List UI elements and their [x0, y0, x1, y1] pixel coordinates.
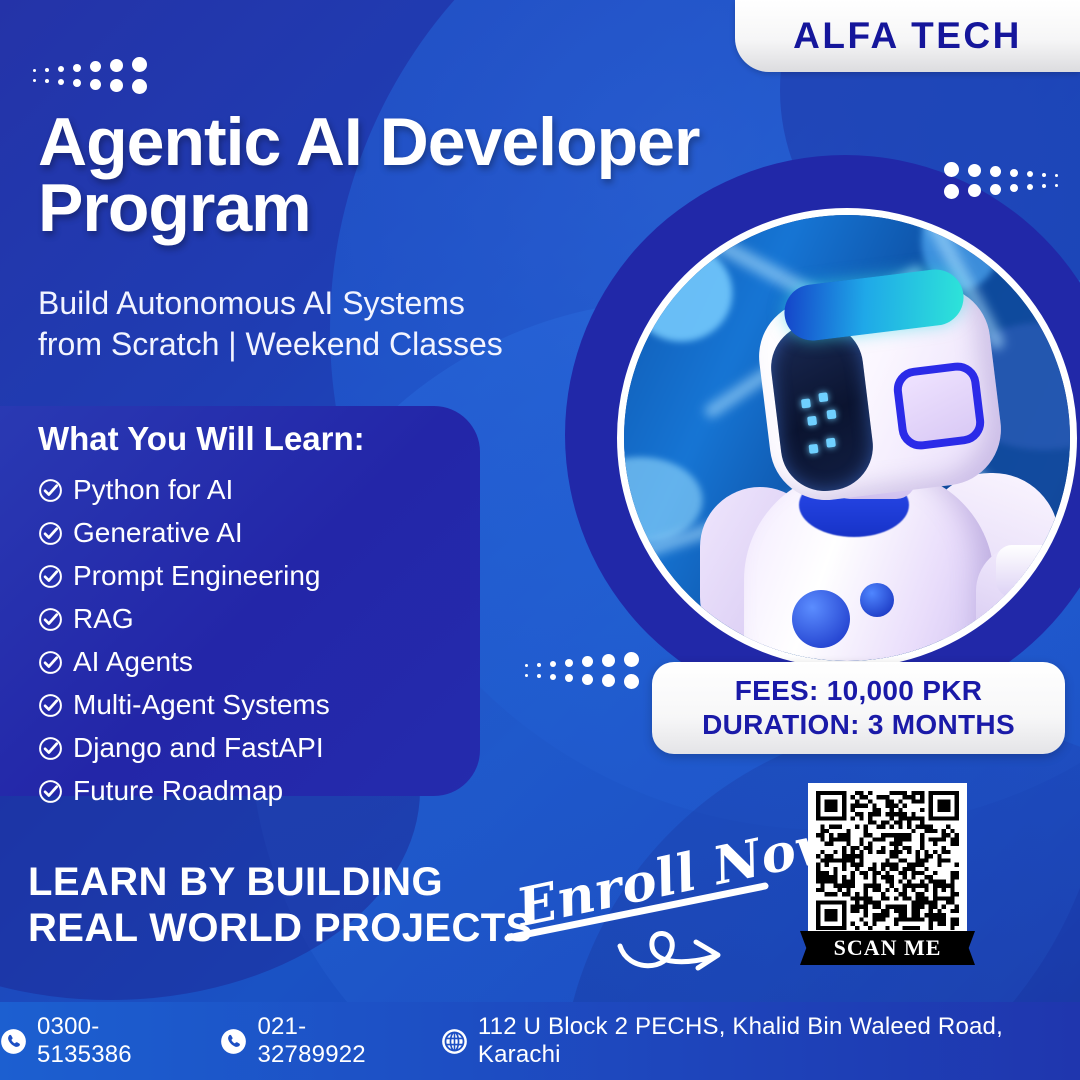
qr-code-image[interactable] [816, 791, 959, 930]
contact-footer: 0300-5135386021-32789922112 U Block 2 PE… [0, 1002, 1080, 1080]
curriculum-item: AI Agents [38, 644, 508, 681]
robot-side-port [891, 360, 986, 452]
dot-column [944, 162, 959, 199]
headline-line-1: Agentic AI Developer [38, 110, 798, 176]
dot-column [45, 68, 49, 83]
dot-column [990, 166, 1001, 195]
dot-column [525, 664, 528, 677]
scan-me-label: SCAN ME [834, 935, 942, 961]
curriculum-item-label: Generative AI [73, 515, 243, 552]
subheadline-line-2: from Scratch | Weekend Classes [38, 324, 658, 365]
curriculum-item-label: Future Roadmap [73, 773, 283, 810]
dot-column [565, 659, 573, 682]
dot-pattern-top-right [944, 162, 1058, 199]
curriculum-item-label: Python for AI [73, 472, 233, 509]
dot-column [1055, 174, 1058, 187]
curriculum-item: Multi-Agent Systems [38, 687, 508, 724]
curriculum-item: RAG [38, 601, 508, 638]
contact-value: 112 U Block 2 PECHS, Khalid Bin Waleed R… [478, 1013, 1080, 1069]
check-circle-icon [38, 779, 63, 804]
dot-column [33, 69, 36, 82]
dot-column [1010, 169, 1018, 192]
dot-column [1027, 171, 1033, 190]
contact-value: 0300-5135386 [37, 1013, 190, 1069]
phone-icon [0, 1028, 27, 1055]
curriculum-item: Future Roadmap [38, 773, 508, 810]
dot-column [602, 654, 615, 687]
check-circle-icon [38, 521, 63, 546]
dot-column [582, 656, 593, 685]
robot-hand-right [996, 545, 1068, 597]
ribbon-tail-right [961, 931, 975, 965]
dot-column [1042, 173, 1046, 188]
robot-button-large [792, 590, 850, 648]
brand-name: ALFA TECH [793, 15, 1022, 57]
subheadline-group: Build Autonomous AI Systems from Scratch… [38, 283, 658, 365]
qr-code-frame [808, 783, 967, 938]
dot-column [537, 663, 541, 678]
fees-line: FEES: 10,000 PKR [735, 674, 983, 708]
robot-photo [617, 208, 1077, 668]
dot-column [58, 66, 64, 85]
check-circle-icon [38, 736, 63, 761]
curriculum-item-label: Multi-Agent Systems [73, 687, 330, 724]
brand-tab: ALFA TECH [735, 0, 1080, 72]
curriculum-item-label: AI Agents [73, 644, 193, 681]
robot-photo-inner [624, 215, 1070, 661]
curriculum-item-label: RAG [73, 601, 134, 638]
curriculum-title: What You Will Learn: [38, 420, 508, 458]
curriculum-item-label: Prompt Engineering [73, 558, 320, 595]
dot-column [90, 61, 101, 90]
robot-button-small [860, 583, 894, 617]
check-circle-icon [38, 693, 63, 718]
ribbon-body: SCAN ME [812, 931, 963, 965]
check-circle-icon [38, 564, 63, 589]
check-circle-icon [38, 607, 63, 632]
curriculum-item-label: Django and FastAPI [73, 730, 324, 767]
scan-me-ribbon: SCAN ME [800, 931, 975, 973]
curriculum-item: Generative AI [38, 515, 508, 552]
curriculum-item: Prompt Engineering [38, 558, 508, 595]
duration-line: DURATION: 3 MONTHS [702, 708, 1015, 742]
tagline-line-1: LEARN BY BUILDING [28, 860, 548, 906]
dot-pattern-top-left [33, 57, 147, 94]
curriculum-content: What You Will Learn: Python for AIGenera… [38, 420, 508, 816]
curriculum-item: Python for AI [38, 472, 508, 509]
curriculum-list: Python for AIGenerative AIPrompt Enginee… [38, 472, 508, 810]
fees-card: FEES: 10,000 PKR DURATION: 3 MONTHS [652, 662, 1065, 754]
dot-column [73, 64, 81, 87]
poster-canvas: ALFA TECH Agentic AI Developer Program B… [0, 0, 1080, 1080]
dot-pattern-middle [525, 652, 639, 689]
dot-column [550, 661, 556, 680]
qr-code-block[interactable]: SCAN ME [800, 783, 975, 973]
contact-value: 021-32789922 [257, 1013, 410, 1069]
dot-column [110, 59, 123, 92]
tagline-line-2: REAL WORLD PROJECTS [28, 906, 548, 952]
curriculum-item: Django and FastAPI [38, 730, 508, 767]
contact-item[interactable]: 0300-5135386 [0, 1013, 190, 1069]
enroll-now-cta[interactable]: Enroll Now! [500, 820, 800, 980]
contact-item[interactable]: 021-32789922 [220, 1013, 410, 1069]
check-circle-icon [38, 478, 63, 503]
globe-icon [441, 1028, 468, 1055]
dot-column [968, 164, 981, 197]
tagline-group: LEARN BY BUILDING REAL WORLD PROJECTS [28, 860, 548, 951]
check-circle-icon [38, 650, 63, 675]
phone-icon [220, 1028, 247, 1055]
subheadline-line-1: Build Autonomous AI Systems [38, 283, 658, 324]
dot-column [132, 57, 147, 94]
contact-item[interactable]: 112 U Block 2 PECHS, Khalid Bin Waleed R… [441, 1013, 1080, 1069]
